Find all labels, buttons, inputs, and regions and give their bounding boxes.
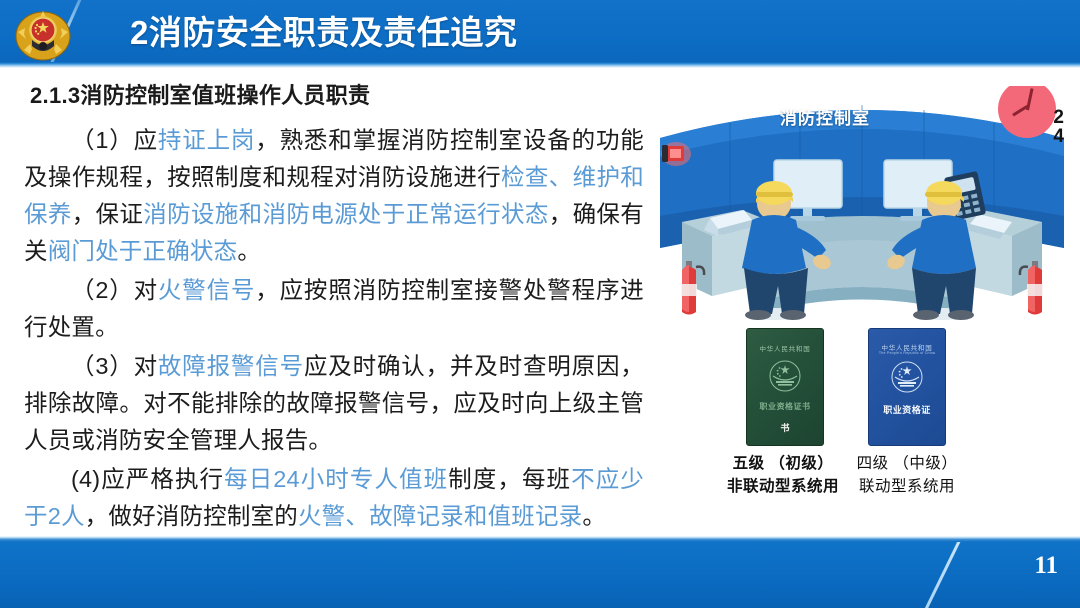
slide-footer: 11: [0, 542, 1080, 608]
section-title: 2.1.3消防控制室值班操作人员职责: [30, 78, 370, 110]
certificate-green-caption: 五级 （初级） 非联动型系统用: [718, 452, 848, 498]
paragraph-4: (4)应严格执行每日24小时专人值班制度，每班不应少于2人，做好消防控制室的火警…: [24, 461, 644, 535]
plain-text: （1）应: [71, 127, 158, 153]
national-emblem-icon: [768, 359, 802, 393]
clock-24-number: 2 4: [1053, 108, 1064, 146]
header-underline: [0, 62, 1080, 68]
highlighted-text: 每日24小时专人值班: [224, 466, 448, 492]
plain-text: （3）对: [71, 353, 158, 379]
certificates-group: 中华人民共和国 职业资格证书 书 中华人民共和国 The People's Re…: [736, 328, 986, 518]
plain-text: (4)应严格执行: [71, 466, 224, 492]
highlighted-text: 消防设施和消防电源处于正常运行状态: [143, 201, 548, 227]
highlighted-text: 故障报警信号: [158, 353, 304, 379]
footer-diagonal-accent: [914, 542, 969, 608]
plain-text: （2）对: [71, 277, 158, 303]
highlighted-text: 火警信号: [158, 277, 255, 303]
plain-text: ，做好消防控制室的: [85, 503, 298, 529]
control-room-illustration: 消防控制室 2 4: [652, 86, 1072, 324]
paragraph-1: （1）应持证上岗，熟悉和掌握消防控制室设备的功能及操作规程，按照制度和规程对消防…: [24, 122, 644, 270]
paragraph-3: （3）对故障报警信号应及时确认，并及时查明原因，排除故障。对不能排除的故障报警信…: [24, 348, 644, 459]
page-title: 2消防安全职责及责任追究: [130, 8, 517, 58]
highlighted-text: 持证上岗: [158, 127, 255, 153]
highlighted-text: 阀门处于正确状态: [48, 238, 238, 264]
certificate-blue: 中华人民共和国 The People's Republic of China 职…: [868, 328, 946, 446]
plain-text: 。: [237, 238, 261, 264]
control-room-label: 消防控制室: [780, 104, 870, 129]
plain-text: ，保证: [72, 201, 144, 227]
page-number: 11: [1034, 552, 1058, 580]
plain-text: 。: [582, 503, 606, 529]
certificate-green: 中华人民共和国 职业资格证书 书: [746, 328, 824, 446]
national-emblem-icon: [890, 360, 924, 394]
paragraph-2: （2）对火警信号，应按照消防控制室接警处警程序进行处置。: [24, 272, 644, 346]
body-content: （1）应持证上岗，熟悉和掌握消防控制室设备的功能及操作规程，按照制度和规程对消防…: [24, 122, 644, 537]
highlighted-text: 火警、故障记录和值班记录: [298, 503, 582, 529]
slide: 2消防安全职责及责任追究 2.1.3消防控制室值班操作人员职责 （1）应持证上岗…: [0, 0, 1080, 608]
certificate-blue-caption: 四级 （中级） 联动型系统用: [842, 452, 972, 498]
slide-header: 2消防安全职责及责任追究: [0, 0, 1080, 68]
plain-text: 制度，每班: [448, 466, 571, 492]
police-badge-icon: [14, 6, 72, 62]
fire-alarm-strobe-icon: [661, 142, 691, 166]
